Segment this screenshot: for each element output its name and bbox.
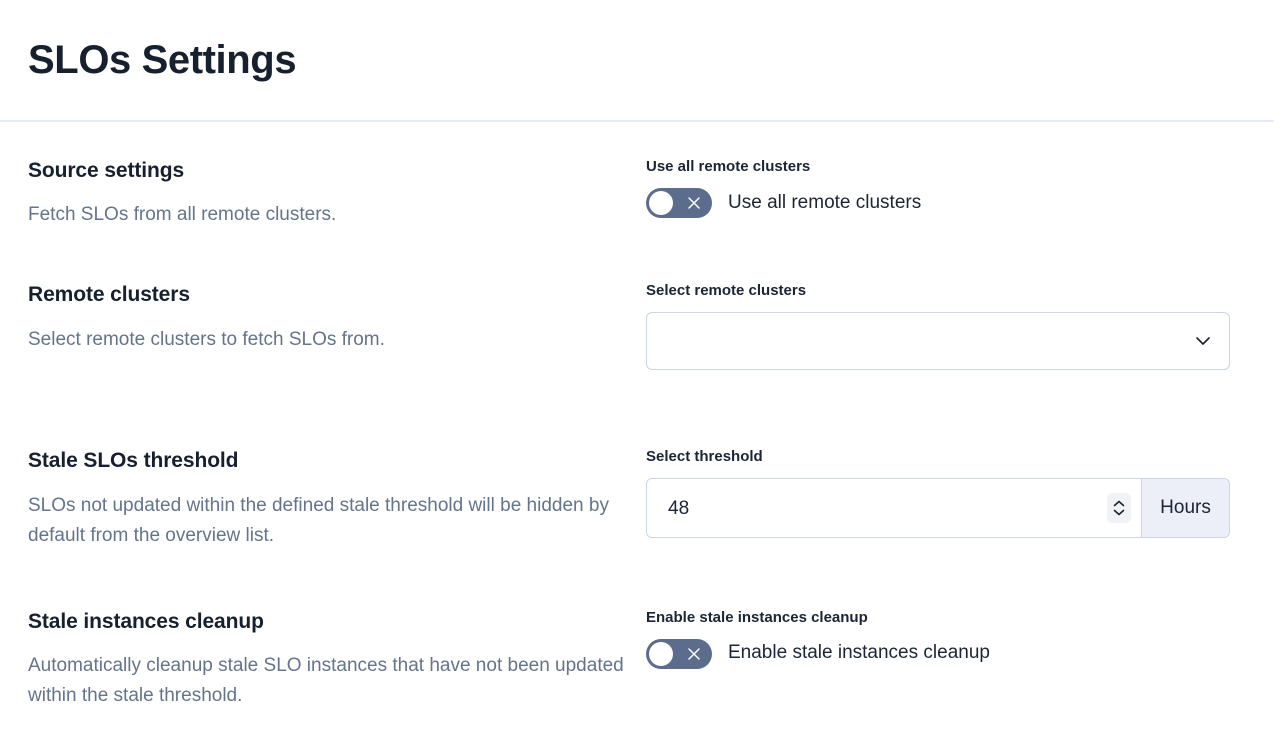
remote-clusters-control-column: Select remote clusters	[646, 282, 1282, 370]
threshold-stepper[interactable]	[1107, 493, 1131, 523]
page-title: SLOs Settings	[28, 38, 296, 82]
remote-clusters-heading: Remote clusters	[28, 282, 626, 308]
stale-threshold-text-column: Stale SLOs threshold SLOs not updated wi…	[28, 448, 646, 550]
toggle-knob	[649, 642, 673, 666]
stale-cleanup-control-column: Enable stale instances cleanup Enable st…	[646, 609, 1282, 669]
setting-row-source-settings: Source settings Fetch SLOs from all remo…	[0, 158, 1282, 230]
chevron-down-icon[interactable]	[1113, 509, 1125, 516]
enable-stale-instances-cleanup-toggle-text[interactable]: Enable stale instances cleanup	[728, 642, 990, 665]
threshold-input-group: 48	[646, 478, 1230, 538]
select-threshold-label: Select threshold	[646, 448, 1282, 466]
stale-threshold-control-column: Select threshold 48	[646, 448, 1282, 538]
use-all-remote-clusters-label: Use all remote clusters	[646, 158, 1282, 176]
setting-row-stale-instances-cleanup: Stale instances cleanup Automatically cl…	[0, 609, 1282, 711]
use-all-remote-clusters-toggle[interactable]	[646, 188, 712, 218]
source-settings-text-column: Source settings Fetch SLOs from all remo…	[28, 158, 646, 230]
setting-row-stale-slos-threshold: Stale SLOs threshold SLOs not updated wi…	[0, 448, 1282, 550]
threshold-number-input[interactable]: 48	[647, 479, 1141, 537]
chevron-up-icon[interactable]	[1113, 500, 1125, 507]
use-all-remote-clusters-toggle-text[interactable]: Use all remote clusters	[728, 192, 921, 215]
source-settings-control-column: Use all remote clusters Use all remote c…	[646, 158, 1282, 218]
page-header: SLOs Settings	[0, 0, 1282, 120]
stale-cleanup-text-column: Stale instances cleanup Automatically cl…	[28, 609, 646, 711]
setting-row-remote-clusters: Remote clusters Select remote clusters t…	[0, 282, 1282, 370]
remote-clusters-description: Select remote clusters to fetch SLOs fro…	[28, 325, 626, 355]
stale-cleanup-description: Automatically cleanup stale SLO instance…	[28, 651, 626, 711]
slos-settings-page: SLOs Settings Source settings Fetch SLOs…	[0, 0, 1282, 756]
enable-stale-instances-cleanup-switch-wrap: Enable stale instances cleanup	[646, 639, 1282, 669]
stale-cleanup-heading: Stale instances cleanup	[28, 609, 626, 635]
settings-body: Source settings Fetch SLOs from all remo…	[0, 122, 1282, 711]
select-remote-clusters-label: Select remote clusters	[646, 282, 1282, 300]
threshold-value: 48	[668, 499, 689, 518]
threshold-unit-suffix[interactable]: Hours	[1141, 479, 1229, 537]
use-all-remote-clusters-switch-wrap: Use all remote clusters	[646, 188, 1282, 218]
stale-threshold-heading: Stale SLOs threshold	[28, 448, 626, 474]
close-x-icon	[687, 647, 701, 661]
select-remote-clusters-dropdown[interactable]	[646, 312, 1230, 370]
toggle-knob	[649, 191, 673, 215]
chevron-down-icon[interactable]	[1193, 331, 1213, 351]
source-settings-description: Fetch SLOs from all remote clusters.	[28, 200, 626, 230]
source-settings-heading: Source settings	[28, 158, 626, 184]
enable-stale-instances-cleanup-toggle[interactable]	[646, 639, 712, 669]
remote-clusters-text-column: Remote clusters Select remote clusters t…	[28, 282, 646, 354]
stale-threshold-description: SLOs not updated within the defined stal…	[28, 491, 626, 551]
enable-stale-instances-cleanup-label: Enable stale instances cleanup	[646, 609, 1282, 627]
close-x-icon	[687, 196, 701, 210]
